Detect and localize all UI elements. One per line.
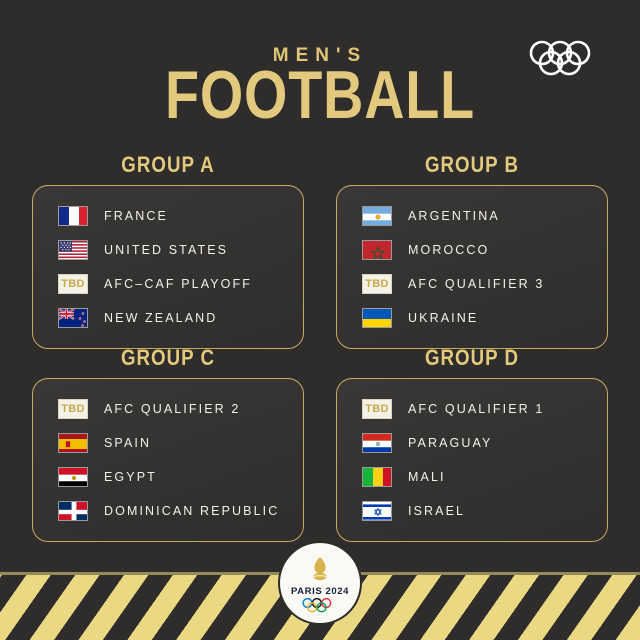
group-title: GROUP D bbox=[356, 345, 587, 371]
team-row[interactable]: ARGENTINA bbox=[337, 199, 607, 233]
team-name: MOROCCO bbox=[408, 243, 489, 257]
flag-israel bbox=[362, 501, 392, 521]
tbd-placeholder: TBD bbox=[58, 274, 88, 294]
flag-paraguay bbox=[362, 433, 392, 453]
flag-egypt bbox=[58, 467, 88, 487]
flag-new-zealand bbox=[58, 308, 88, 328]
group-card: FRANCE UNITED STATES TBD AFC–CAF PLAYOFF bbox=[32, 185, 304, 349]
team-row[interactable]: EGYPT bbox=[33, 460, 303, 494]
team-row[interactable]: NEW ZEALAND bbox=[33, 301, 303, 335]
paris2024-badge: PARIS 2024 bbox=[280, 543, 360, 623]
group-card: ARGENTINA MOROCCO TBD AFC QUALIFIER 3 UK… bbox=[336, 185, 608, 349]
badge-label: PARIS 2024 bbox=[291, 586, 349, 597]
team-name: FRANCE bbox=[104, 209, 168, 223]
group-title: GROUP B bbox=[356, 152, 587, 178]
team-name: EGYPT bbox=[104, 470, 157, 484]
team-name: AFC–CAF PLAYOFF bbox=[104, 277, 252, 291]
flag-argentina bbox=[362, 206, 392, 226]
flag-spain bbox=[58, 433, 88, 453]
olympic-rings-icon bbox=[527, 40, 613, 76]
team-name: AFC QUALIFIER 3 bbox=[408, 277, 544, 291]
team-row[interactable]: UKRAINE bbox=[337, 301, 607, 335]
team-row[interactable]: TBD AFC QUALIFIER 3 bbox=[337, 267, 607, 301]
team-name: AFC QUALIFIER 1 bbox=[408, 402, 544, 416]
team-row[interactable]: DOMINICAN REPUBLIC bbox=[33, 494, 303, 528]
flag-france bbox=[58, 206, 88, 226]
team-name: UNITED STATES bbox=[104, 243, 228, 257]
team-row[interactable]: MALI bbox=[337, 460, 607, 494]
paris2024-flame-icon bbox=[305, 555, 335, 585]
team-name: NEW ZEALAND bbox=[104, 311, 217, 325]
group-block-d: GROUP D TBD AFC QUALIFIER 1 PARAGUAY MAL… bbox=[336, 345, 608, 542]
tbd-placeholder: TBD bbox=[362, 274, 392, 294]
page-title: FOOTBALL bbox=[58, 61, 583, 129]
team-row[interactable]: SPAIN bbox=[33, 426, 303, 460]
team-row[interactable]: TBD AFC QUALIFIER 2 bbox=[33, 392, 303, 426]
team-name: SPAIN bbox=[104, 436, 151, 450]
group-card: TBD AFC QUALIFIER 1 PARAGUAY MALI bbox=[336, 378, 608, 542]
team-name: UKRAINE bbox=[408, 311, 478, 325]
olympic-rings-color-icon bbox=[300, 598, 340, 613]
group-block-c: GROUP C TBD AFC QUALIFIER 2 SPAIN EGYPT bbox=[32, 345, 304, 542]
team-row[interactable]: TBD AFC–CAF PLAYOFF bbox=[33, 267, 303, 301]
flag-ukraine bbox=[362, 308, 392, 328]
team-name: ARGENTINA bbox=[408, 209, 500, 223]
team-row[interactable]: TBD AFC QUALIFIER 1 bbox=[337, 392, 607, 426]
flag-mali bbox=[362, 467, 392, 487]
tbd-placeholder: TBD bbox=[362, 399, 392, 419]
team-row[interactable]: FRANCE bbox=[33, 199, 303, 233]
team-name: MALI bbox=[408, 470, 446, 484]
team-name: PARAGUAY bbox=[408, 436, 492, 450]
group-card: TBD AFC QUALIFIER 2 SPAIN EGYPT bbox=[32, 378, 304, 542]
group-title: GROUP A bbox=[52, 152, 283, 178]
team-row[interactable]: UNITED STATES bbox=[33, 233, 303, 267]
team-row[interactable]: MOROCCO bbox=[337, 233, 607, 267]
poster-canvas: MEN'S FOOTBALL GROUP A FRANCE bbox=[0, 0, 640, 640]
group-block-a: GROUP A FRANCE UNITED STATES bbox=[32, 152, 304, 349]
team-row[interactable]: PARAGUAY bbox=[337, 426, 607, 460]
flag-united-states bbox=[58, 240, 88, 260]
team-name: ISRAEL bbox=[408, 504, 465, 518]
group-block-b: GROUP B ARGENTINA MOROCCO TBD AFC QUALIF… bbox=[336, 152, 608, 349]
team-name: DOMINICAN REPUBLIC bbox=[104, 504, 279, 518]
flag-morocco bbox=[362, 240, 392, 260]
tbd-placeholder: TBD bbox=[58, 399, 88, 419]
team-name: AFC QUALIFIER 2 bbox=[104, 402, 240, 416]
flag-dominican-republic bbox=[58, 501, 88, 521]
team-row[interactable]: ISRAEL bbox=[337, 494, 607, 528]
group-title: GROUP C bbox=[52, 345, 283, 371]
